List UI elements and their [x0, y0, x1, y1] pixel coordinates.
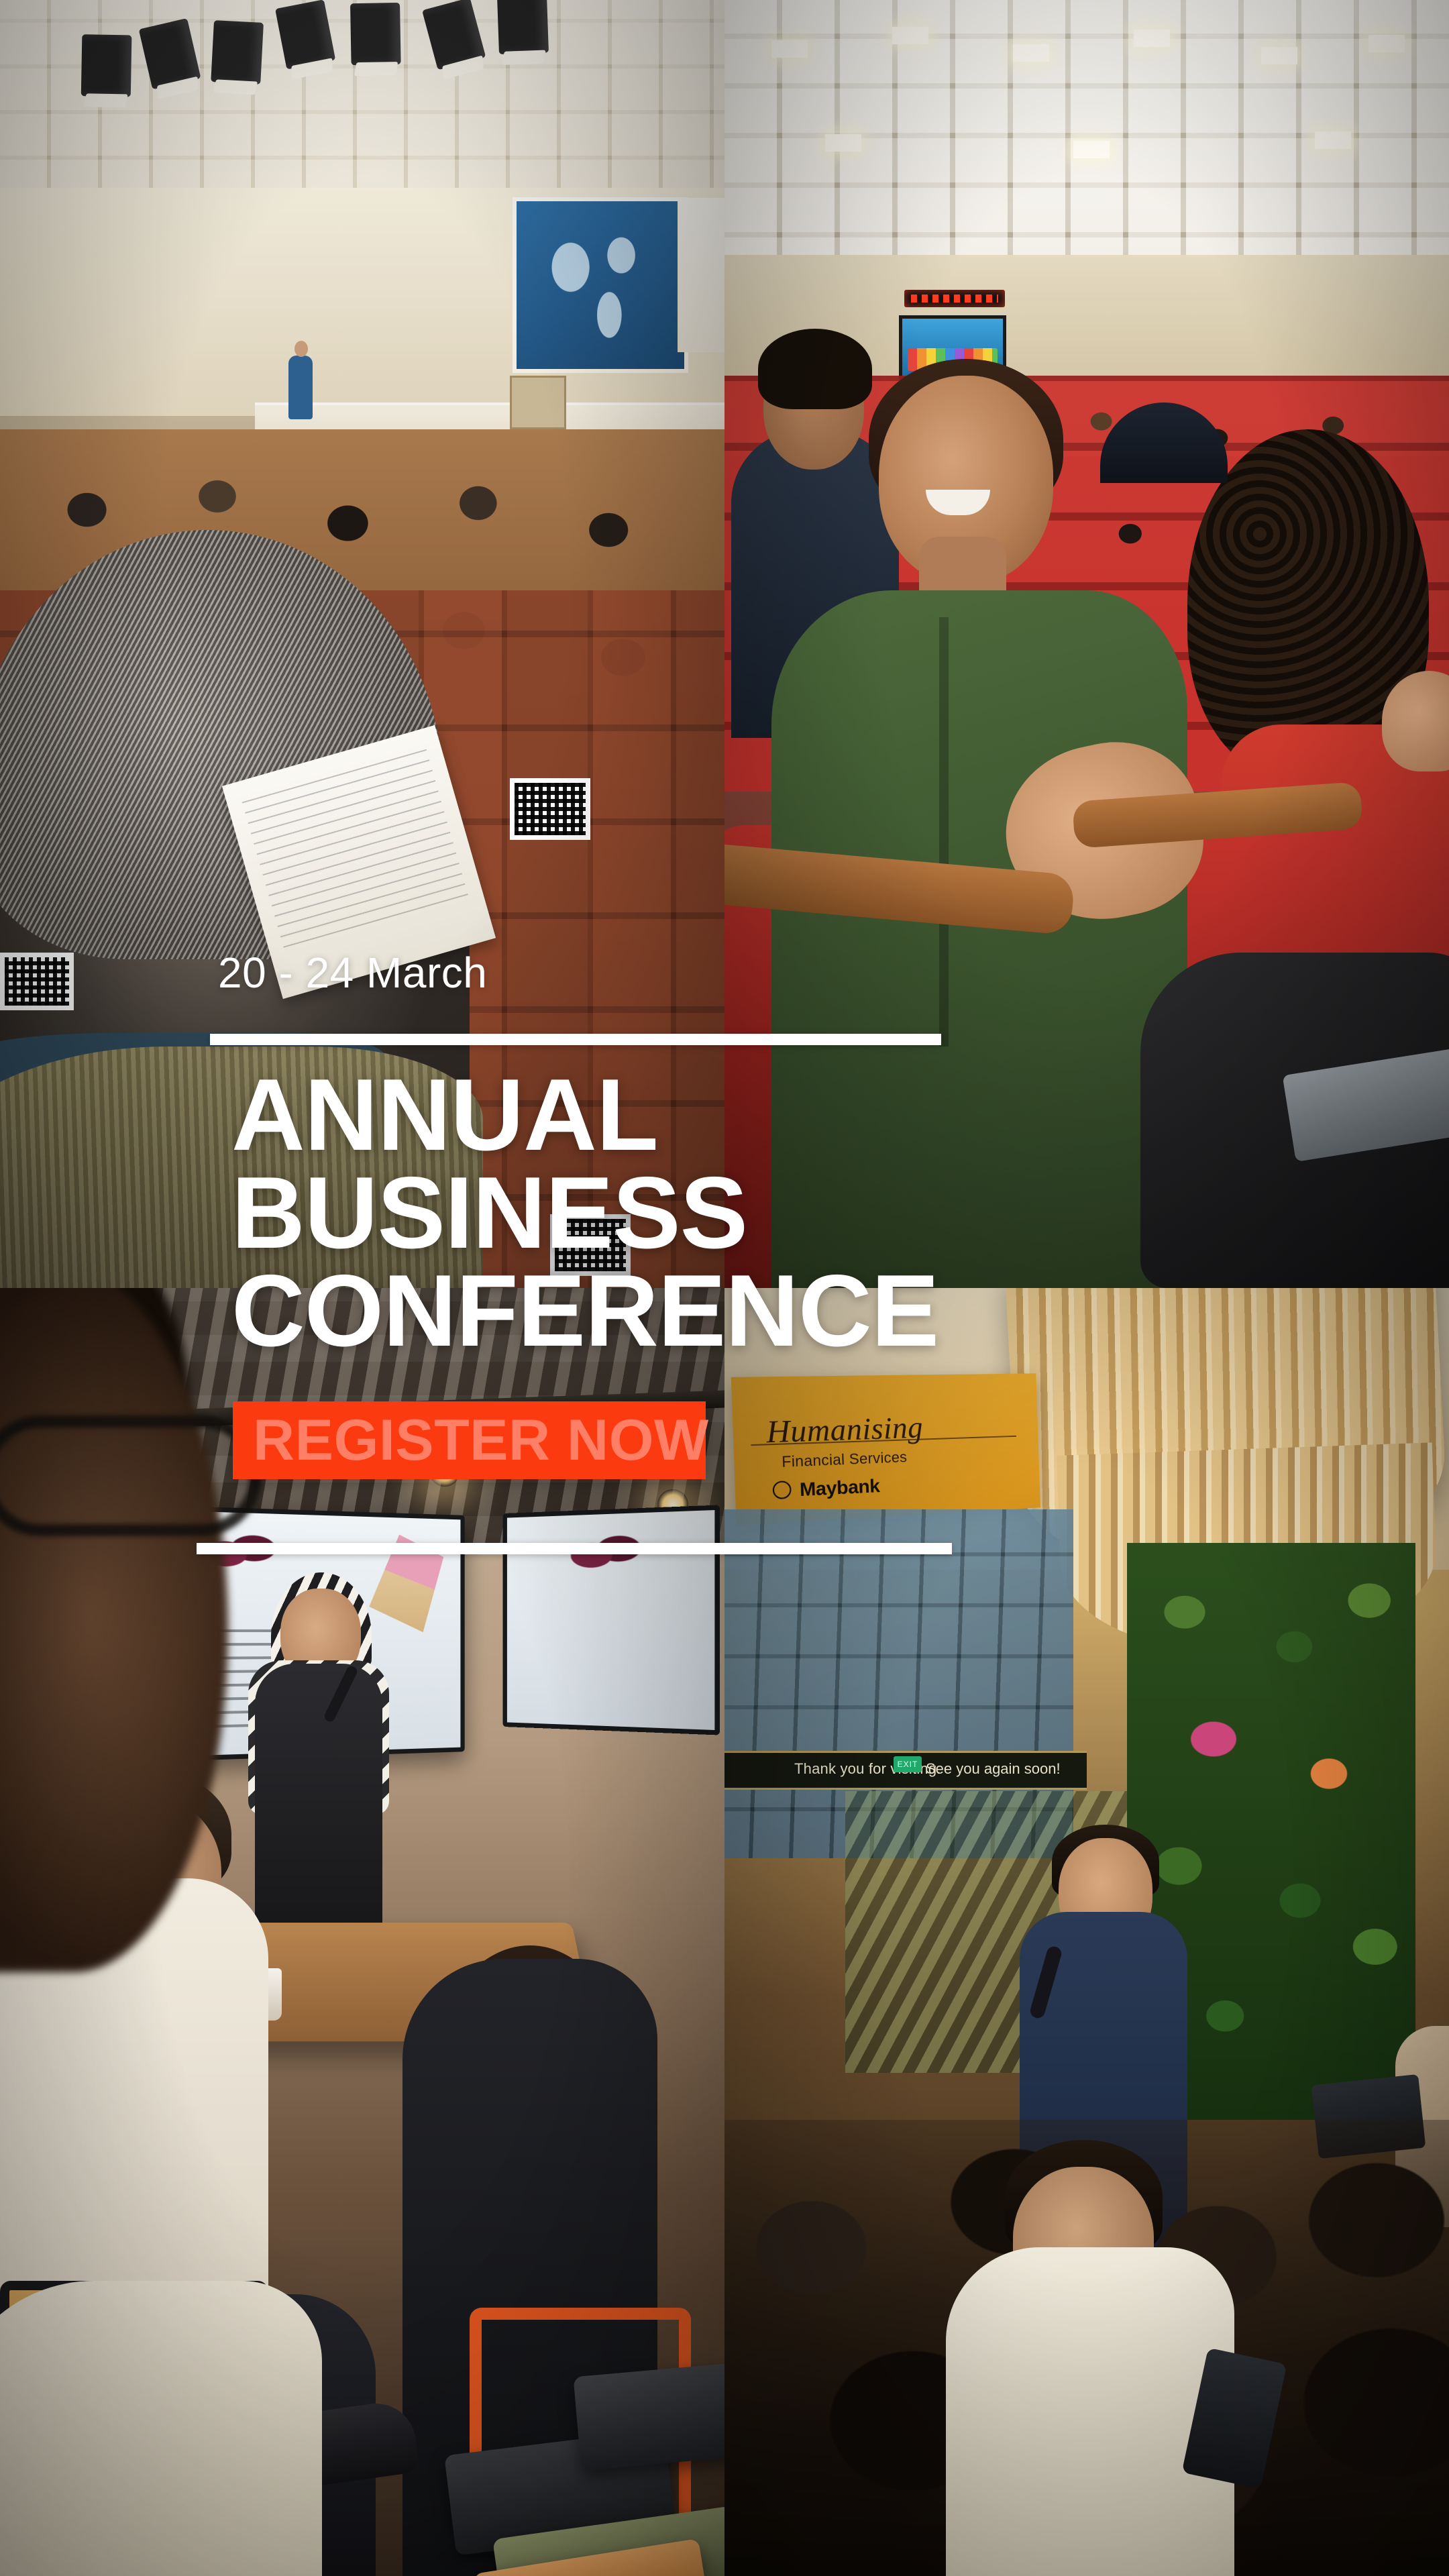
- poster-canvas: Humanising Financial Services Maybank Th…: [0, 0, 1449, 2576]
- panel-applauding-audience: [724, 0, 1449, 1288]
- woman-green-shirt: [771, 590, 1187, 1288]
- slide-graphic: [558, 1523, 643, 1586]
- panel-auditorium-lecture: [0, 0, 724, 1288]
- maybank-brand: Maybank: [799, 1475, 879, 1501]
- maybank-tagline-sub: Financial Services: [782, 1448, 908, 1471]
- maybank-signboard: Humanising Financial Services Maybank: [731, 1373, 1040, 1525]
- slide-illustration: [369, 1534, 443, 1632]
- maybank-tagline-script: Humanising: [765, 1409, 923, 1450]
- glasses-icon: [0, 1415, 262, 1536]
- world-map-banner: [517, 201, 684, 369]
- foreground-man-sweater: [0, 1046, 483, 1288]
- countdown-display: [904, 290, 1005, 307]
- devices-on-table: [356, 2241, 724, 2576]
- maybank-logo-icon: [772, 1481, 791, 1499]
- exit-sign: EXIT: [894, 1756, 922, 1772]
- register-now-button[interactable]: REGISTER NOW: [233, 1401, 706, 1479]
- panel-workshop-presentation: [0, 1288, 724, 2576]
- mall-seeyou-text: See you again soon!: [926, 1760, 1061, 1778]
- seat-qr-label: [0, 953, 74, 1010]
- presenter-body: [255, 1664, 382, 1945]
- projection-screen: [678, 198, 724, 352]
- panel-corporate-talk: Humanising Financial Services Maybank Th…: [724, 1288, 1449, 2576]
- seat-qr-label: [550, 1214, 631, 1276]
- stage-speaker: [288, 356, 313, 419]
- register-now-label: REGISTER NOW: [233, 1407, 709, 1474]
- seat-qr-label: [510, 778, 590, 840]
- secondary-slide-screen: [503, 1505, 720, 1735]
- podium: [510, 376, 566, 429]
- foreground-attendee-body: [0, 2281, 322, 2576]
- audience-member-shirt: [946, 2247, 1234, 2576]
- photo-collage: Humanising Financial Services Maybank Th…: [0, 0, 1449, 2576]
